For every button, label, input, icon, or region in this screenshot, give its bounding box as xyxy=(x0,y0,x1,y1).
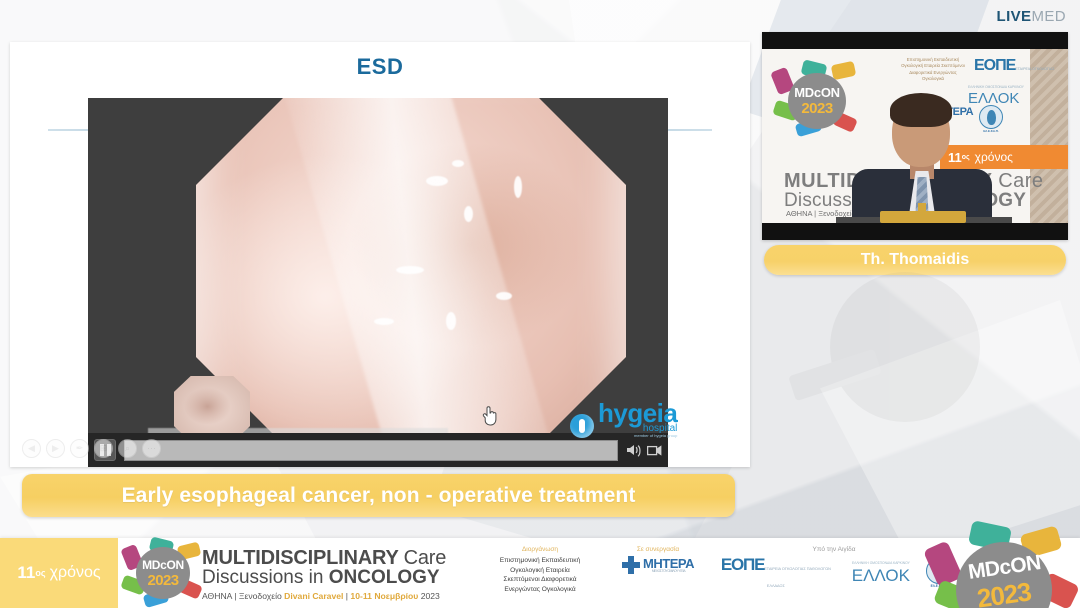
title-light-1: Care xyxy=(998,170,1043,192)
slide-panel: ESD xyxy=(10,42,750,467)
background-watermark xyxy=(770,262,1070,522)
footer-mdcon-logo: MDcON 2023 xyxy=(118,538,202,608)
hygeia-mark-icon xyxy=(570,414,594,438)
organizer-line: Ενεργώντας Ογκολογικά xyxy=(480,585,600,595)
thumbnails-icon[interactable]: ⊞ xyxy=(94,439,113,458)
specular-highlight xyxy=(514,176,522,198)
venue-city: ΑΘΗΝΑ xyxy=(202,591,232,601)
zoom-icon[interactable]: ⌕ xyxy=(118,439,137,458)
app-window: LIVEMED ESD xyxy=(0,0,1080,608)
brand-med-text: MED xyxy=(1031,8,1066,25)
footer-venue-line: ΑΘΗΝΑ | Ξενοδοχείο Divani Caravel | 10-1… xyxy=(202,591,480,601)
footer-eope-logo: ΕΟΠΕΕΤΑΙΡΕΙΑ ΟΓΚΟΛΟΓΙΑΣ ΠΑΘΟΛΟΓΩΝ ΕΛΛΑΔΟ… xyxy=(716,556,836,590)
footer-large-mdcon-logo: MDcON 2023 xyxy=(926,538,1076,608)
organizer-line: Επιστημονική Εκπαιδευτική xyxy=(480,556,600,566)
letterbox-bar xyxy=(762,223,1068,240)
footer-years-badge: 11οςχρόνος xyxy=(0,538,118,608)
seek-bar[interactable] xyxy=(124,440,618,461)
letterbox-bar xyxy=(762,32,1068,49)
auspices-caption: Υπό την Αιγίδα xyxy=(716,546,952,553)
conference-footer: 11οςχρόνος MDcON 2023 MULTIDISCIPLINARY … xyxy=(0,538,1080,608)
venue-hotel-word: Ξενοδοχείο xyxy=(239,591,282,601)
more-options-icon[interactable]: ⋯ xyxy=(142,439,161,458)
livemed-logo[interactable]: LIVEMED xyxy=(997,9,1067,24)
footer-title-light-2: Discussions in xyxy=(202,567,323,588)
cooperation-caption: Σε συνεργασία xyxy=(606,546,710,553)
footer-years-suffix: ος xyxy=(35,568,45,578)
mouse-cursor-hand-icon xyxy=(482,404,498,426)
venue-year: 2023 xyxy=(421,591,440,601)
fullscreen-icon[interactable] xyxy=(647,444,662,457)
background-shard xyxy=(820,300,1080,560)
footer-mitera-logo: ΜΗΤΕΡΑΜΕΛΟΣ ΤΟΥ ΟΜΙΛΟΥ ΥΓΕΙΑ xyxy=(606,556,710,574)
footer-cooperation-block: Σε συνεργασία ΜΗΤΕΡΑΜΕΛΟΣ ΤΟΥ ΟΜΙΛΟΥ ΥΓΕ… xyxy=(606,546,710,574)
microphone-icon xyxy=(880,211,966,223)
footer-auspices-block: Υπό την Αιγίδα ΕΟΠΕΕΤΑΙΡΕΙΑ ΟΓΚΟΛΟΓΙΑΣ Π… xyxy=(716,546,952,590)
footer-years-word: χρόνος xyxy=(50,564,101,582)
hygeia-hospital-logo: hygeia hospital member of hygeia group xyxy=(570,400,677,438)
logo-name: MDcON xyxy=(142,558,184,572)
backdrop-eope-logo: ΕΟΠΕΕΤΑΙΡΕΙΑ ΟΓΚΟΛΟΓΙΑΣ xyxy=(974,57,1055,75)
eope-name: ΕΟΠΕ xyxy=(721,555,764,574)
organizer-line: Ογκολογική Εταιρεία xyxy=(480,566,600,576)
venue-hotel-name: Divani Caravel xyxy=(284,591,343,601)
footer-conference-title: MULTIDISCIPLINARY Care Discussions in ON… xyxy=(202,538,480,608)
footer-years-number: 11 xyxy=(17,563,35,583)
logo-pill xyxy=(831,61,857,80)
logo-name: MDcON xyxy=(794,85,839,100)
slide-toolbar: ◀ ▶ ✒ ⊞ ⌕ ⋯ xyxy=(22,439,161,458)
medical-cross-icon xyxy=(622,556,640,574)
speaker-name-badge: Th. Thomaidis xyxy=(764,245,1066,275)
venue-dates: 10-11 Νοεμβρίου xyxy=(350,591,418,601)
backdrop-organizer-text: Επιστημονική Εκπαιδευτική Ογκολογική Ετα… xyxy=(898,57,968,83)
footer-title-bold-2: ONCOLOGY xyxy=(329,567,440,588)
presenter-hair xyxy=(890,93,952,127)
talk-title-bar: Early esophageal cancer, non - operative… xyxy=(22,474,735,517)
eope-subtitle: ΕΤΑΙΡΕΙΑ ΟΓΚΟΛΟΓΙΑΣ xyxy=(1015,67,1054,71)
video-player-controls xyxy=(88,433,668,467)
ellok-name: ΕΛΛΟΚ xyxy=(852,566,910,585)
next-slide-icon[interactable]: ▶ xyxy=(46,439,65,458)
volume-icon[interactable] xyxy=(626,443,642,457)
speaker-name-text: Th. Thomaidis xyxy=(861,251,969,269)
footer-title-bold-1: MULTIDISCIPLINARY xyxy=(202,547,398,569)
conference-backdrop: MDcON 2023 Επιστημονική Εκπαιδευτική Ογκ… xyxy=(762,49,1068,224)
hygeia-group-text: member of hygeia group xyxy=(598,434,677,438)
prev-slide-icon[interactable]: ◀ xyxy=(22,439,41,458)
talk-title-text: Early esophageal cancer, non - operative… xyxy=(122,484,636,508)
ellok-subtitle: ΕΛΛΗΝΙΚΗ ΟΜΟΣΠΟΝΔΙΑ ΚΑΡΚΙΝΟΥ xyxy=(968,85,1024,89)
eope-subtitle: ΕΤΑΙΡΕΙΑ ΟΓΚΟΛΟΓΙΑΣ ΠΑΘΟΛΟΓΩΝ ΕΛΛΑΔΟΣ xyxy=(764,567,831,588)
footer-ellok-logo: ΕΛΛΗΝΙΚΗ ΟΜΟΣΠΟΝΔΙΑ ΚΑΡΚΙΝΟΥ ΕΛΛΟΚ xyxy=(852,562,910,584)
footer-organizer-block: Διοργάνωση Επιστημονική Εκπαιδευτική Ογκ… xyxy=(480,546,600,594)
organizer-line: Σκεπτόμενοι Διαφορετικά xyxy=(480,575,600,585)
speaker-video[interactable]: MDcON 2023 Επιστημονική Εκπαιδευτική Ογκ… xyxy=(762,32,1068,240)
logo-year: 2023 xyxy=(148,572,179,589)
organizer-caption: Διοργάνωση xyxy=(480,546,600,553)
eope-name: ΕΟΠΕ xyxy=(974,57,1015,74)
logo-year: 2023 xyxy=(801,100,832,117)
venue-separator: | xyxy=(232,591,239,601)
footer-title-light-1: Care xyxy=(404,547,447,569)
ellok-subtitle: ΕΛΛΗΝΙΚΗ ΟΜΟΣΠΟΝΔΙΑ ΚΑΡΚΙΝΟΥ xyxy=(852,562,910,565)
slide-title: ESD xyxy=(10,54,750,80)
pen-icon[interactable]: ✒ xyxy=(70,439,89,458)
brand-live-text: LIVE xyxy=(997,8,1032,25)
